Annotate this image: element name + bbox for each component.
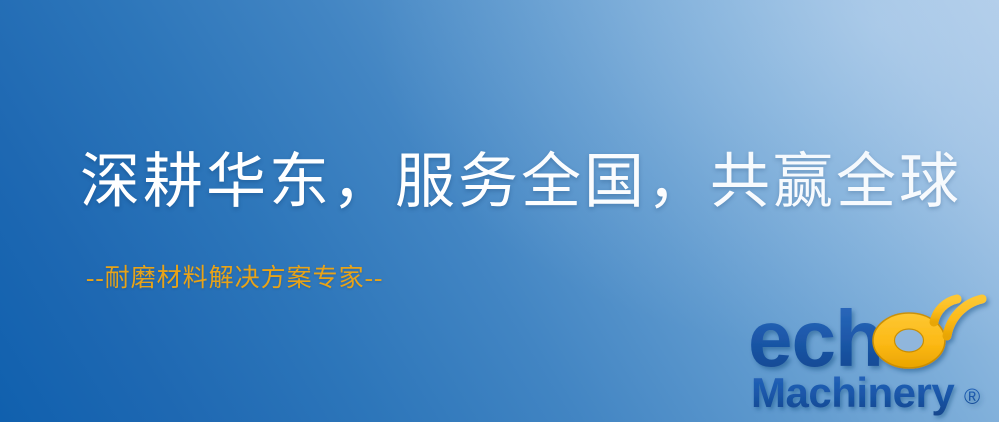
banner-subtitle: --耐磨材料解决方案专家-- [86, 266, 383, 291]
hero-banner: 深耕华东，服务全国，共赢全球 --耐磨材料解决方案专家-- [0, 0, 999, 422]
logo-text-machinery: Machinery [751, 369, 955, 416]
logo-wordmark-machinery: Machinery ® [751, 368, 999, 418]
registered-trademark-icon: ® [964, 384, 980, 409]
echo-machinery-logo: ech [748, 296, 999, 422]
logo-wordmark-echo: ech [748, 296, 999, 378]
banner-headline: 深耕华东，服务全国，共赢全球 [80, 152, 962, 212]
